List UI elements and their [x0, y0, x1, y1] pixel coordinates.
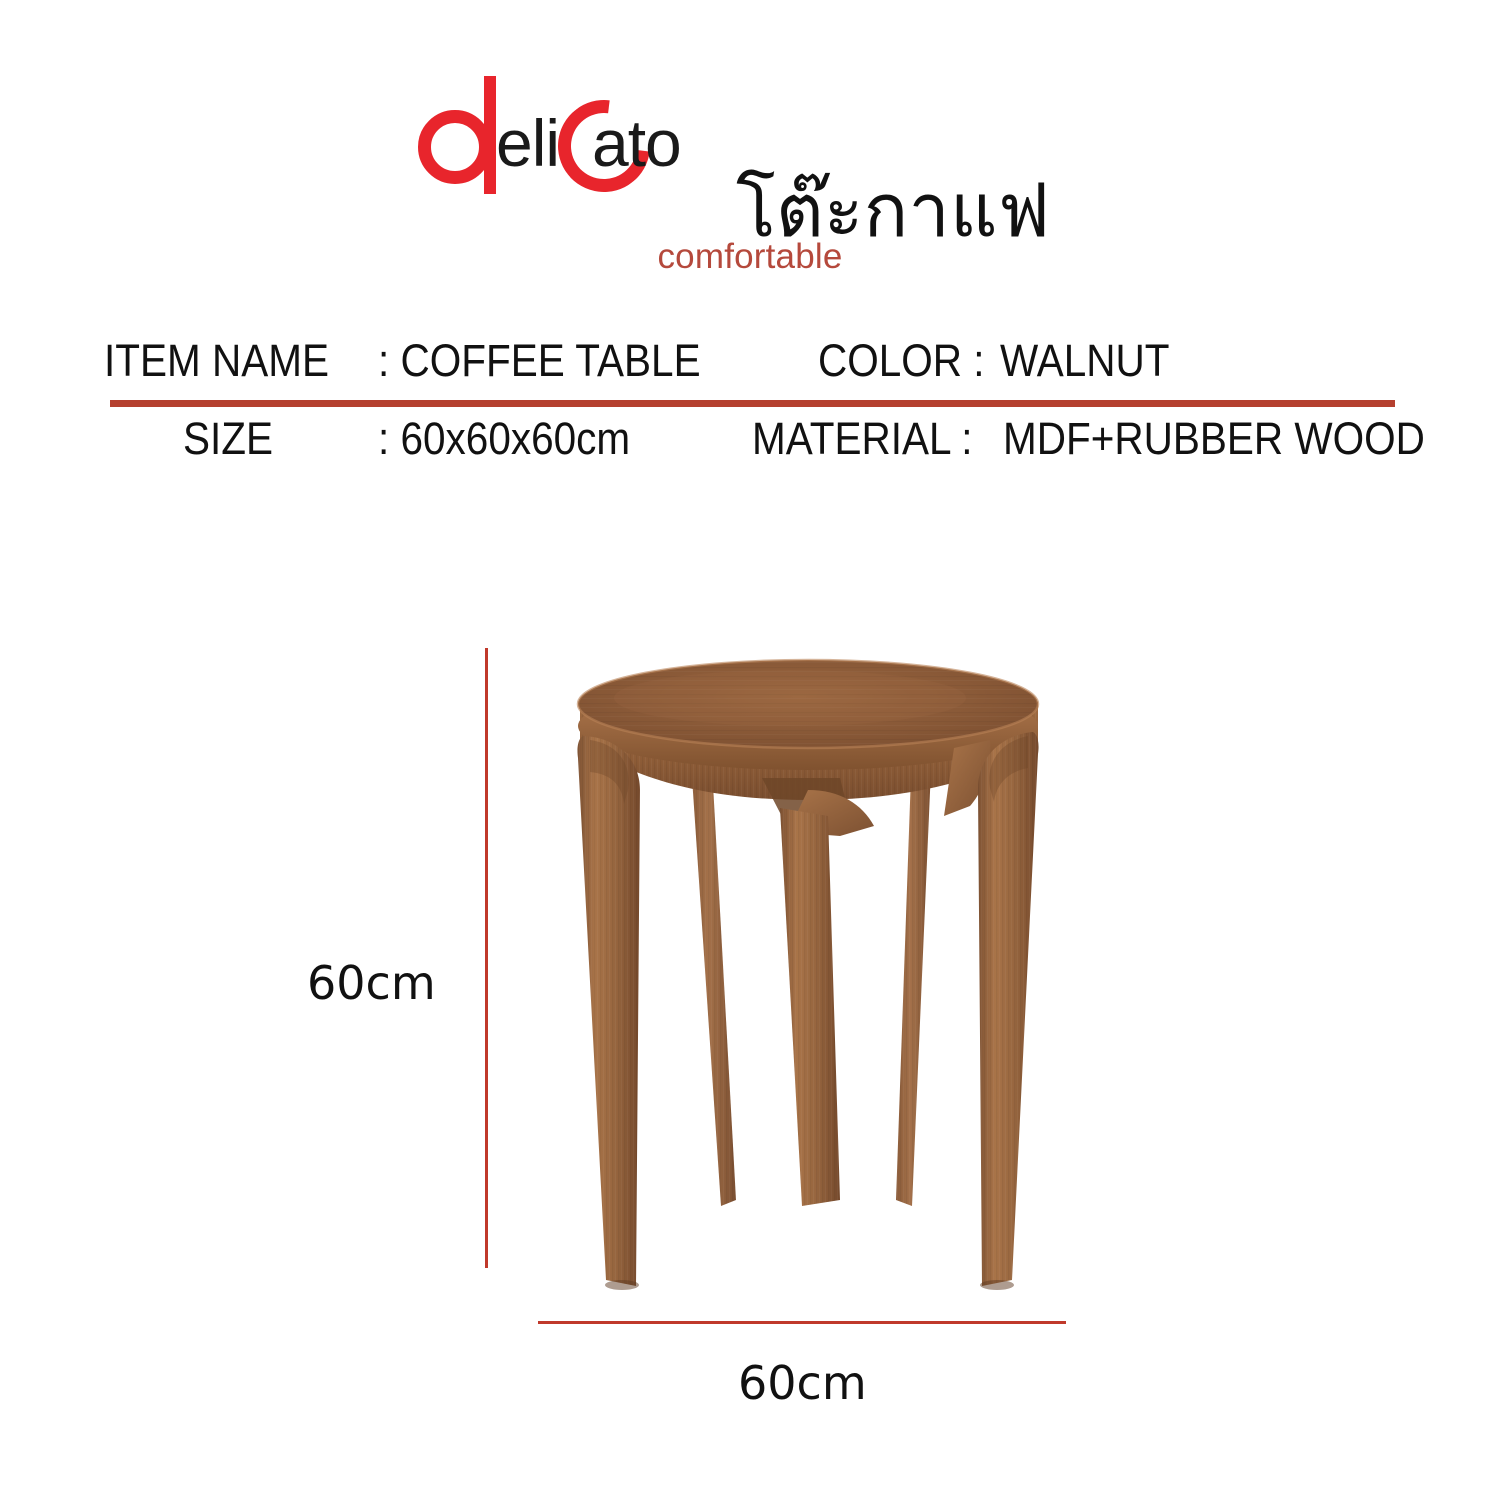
width-dimension-label: 60cm: [738, 1355, 867, 1411]
height-dimension-line: [485, 648, 488, 1268]
height-dimension-label: 60cm: [307, 955, 436, 1011]
coffee-table-illustration: [540, 640, 1080, 1320]
width-dimension-line: [538, 1321, 1066, 1324]
product-image-area: 60cm 60cm: [0, 0, 1500, 1500]
